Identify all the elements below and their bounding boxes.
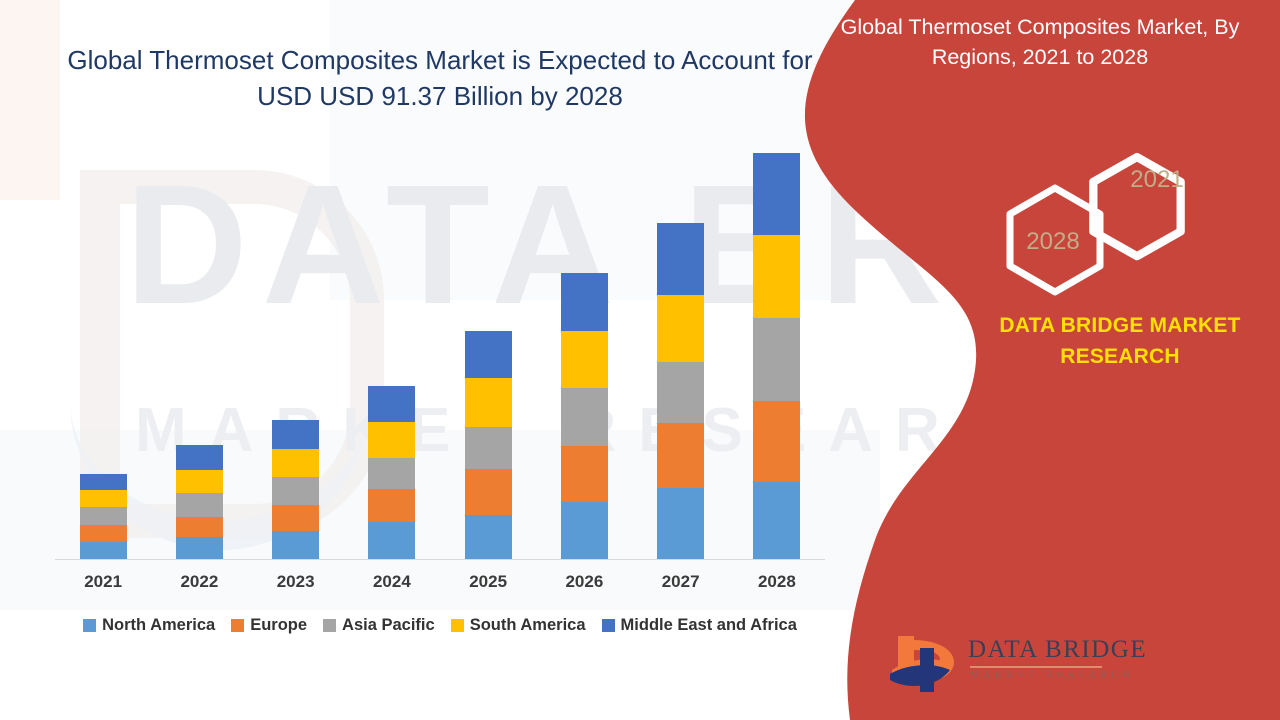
chart-legend: North AmericaEuropeAsia PacificSouth Ame…: [55, 616, 825, 635]
bar-segment[interactable]: [80, 474, 127, 490]
bar-segment[interactable]: [176, 445, 223, 470]
bar-segment[interactable]: [561, 502, 608, 559]
legend-label: Middle East and Africa: [621, 616, 797, 635]
bar-segment[interactable]: [272, 420, 319, 449]
bar-group: [55, 150, 825, 559]
x-axis-label: 2026: [536, 572, 632, 592]
bar-segment[interactable]: [368, 386, 415, 423]
bar-segment[interactable]: [80, 490, 127, 507]
x-axis-label: 2022: [151, 572, 247, 592]
bar-segment[interactable]: [368, 458, 415, 489]
x-axis-label: 2021: [55, 572, 151, 592]
bar-segment[interactable]: [657, 362, 704, 423]
bar-segment[interactable]: [657, 423, 704, 488]
bar-segment[interactable]: [657, 223, 704, 295]
stacked-bar[interactable]: [657, 223, 704, 559]
bar-segment[interactable]: [272, 449, 319, 477]
hexagon-badges: 2028 2021: [960, 150, 1260, 310]
x-axis-label: 2027: [633, 572, 729, 592]
bar-segment[interactable]: [465, 331, 512, 378]
stacked-bar[interactable]: [368, 386, 415, 559]
legend-swatch-icon: [451, 619, 464, 632]
legend-item[interactable]: Middle East and Africa: [602, 616, 797, 635]
dbmr-logo-title: DATA BRIDGE: [968, 636, 1147, 664]
legend-label: Europe: [250, 616, 307, 635]
bar-segment[interactable]: [657, 488, 704, 559]
bar-segment[interactable]: [465, 515, 512, 559]
legend-item[interactable]: Europe: [231, 616, 307, 635]
x-axis-label: 2023: [248, 572, 344, 592]
bar-segment[interactable]: [657, 295, 704, 362]
background-tint-left: [0, 0, 60, 200]
bar-segment[interactable]: [561, 331, 608, 388]
bar-segment[interactable]: [272, 531, 319, 559]
bar-segment[interactable]: [80, 542, 127, 559]
dbmr-logo-divider: [970, 666, 1102, 668]
chart-title: Global Thermoset Composites Market is Ex…: [60, 42, 820, 114]
legend-item[interactable]: Asia Pacific: [323, 616, 435, 635]
bar-column: [633, 150, 729, 559]
legend-swatch-icon: [231, 619, 244, 632]
legend-item[interactable]: South America: [451, 616, 586, 635]
bar-segment[interactable]: [465, 427, 512, 469]
x-axis-label: 2025: [440, 572, 536, 592]
legend-swatch-icon: [83, 619, 96, 632]
legend-label: Asia Pacific: [342, 616, 435, 635]
bar-segment[interactable]: [176, 537, 223, 559]
bar-segment[interactable]: [176, 493, 223, 517]
dbmr-logo-subtitle: MARKET RESEARCH: [970, 670, 1134, 681]
bar-segment[interactable]: [176, 470, 223, 494]
bar-segment[interactable]: [561, 273, 608, 331]
infographic-canvas: DATA BRIDGE MARKET RESEARCH Global Therm…: [0, 0, 1280, 720]
bar-segment[interactable]: [368, 489, 415, 522]
bar-segment[interactable]: [465, 469, 512, 515]
x-axis-line: [55, 559, 825, 560]
legend-label: North America: [102, 616, 215, 635]
x-axis-label: 2024: [344, 572, 440, 592]
bar-column: [440, 150, 536, 559]
bar-segment[interactable]: [80, 525, 127, 542]
hexagon-2028-label: 2028: [968, 228, 1138, 256]
legend-label: South America: [470, 616, 586, 635]
legend-swatch-icon: [602, 619, 615, 632]
stacked-bar[interactable]: [561, 273, 608, 559]
bar-segment[interactable]: [80, 507, 127, 524]
dbmr-logo: DATA BRIDGE MARKET RESEARCH: [890, 630, 1105, 700]
brand-name: DATA BRIDGE MARKET RESEARCH: [960, 310, 1280, 372]
panel-title: Global Thermoset Composites Market, By R…: [820, 12, 1260, 72]
bar-column: [536, 150, 632, 559]
stacked-bar[interactable]: [176, 445, 223, 559]
x-axis-labels: 20212022202320242025202620272028: [55, 572, 825, 592]
chart-plot-area: [55, 150, 825, 560]
legend-item[interactable]: North America: [83, 616, 215, 635]
bar-column: [248, 150, 344, 559]
bar-segment[interactable]: [176, 517, 223, 537]
stacked-bar[interactable]: [465, 331, 512, 559]
bar-segment[interactable]: [368, 422, 415, 458]
bar-segment[interactable]: [368, 522, 415, 559]
bar-segment[interactable]: [561, 446, 608, 502]
bar-column: [344, 150, 440, 559]
legend-swatch-icon: [323, 619, 336, 632]
bar-column: [55, 150, 151, 559]
bar-segment[interactable]: [272, 505, 319, 531]
hexagon-2021-label: 2021: [1072, 166, 1242, 194]
stacked-bar[interactable]: [80, 474, 127, 559]
bar-segment[interactable]: [561, 388, 608, 446]
bar-segment[interactable]: [272, 477, 319, 505]
bar-segment[interactable]: [465, 378, 512, 426]
dbmr-logo-mark-icon: [890, 630, 968, 694]
stacked-bar[interactable]: [272, 420, 319, 559]
bar-column: [151, 150, 247, 559]
